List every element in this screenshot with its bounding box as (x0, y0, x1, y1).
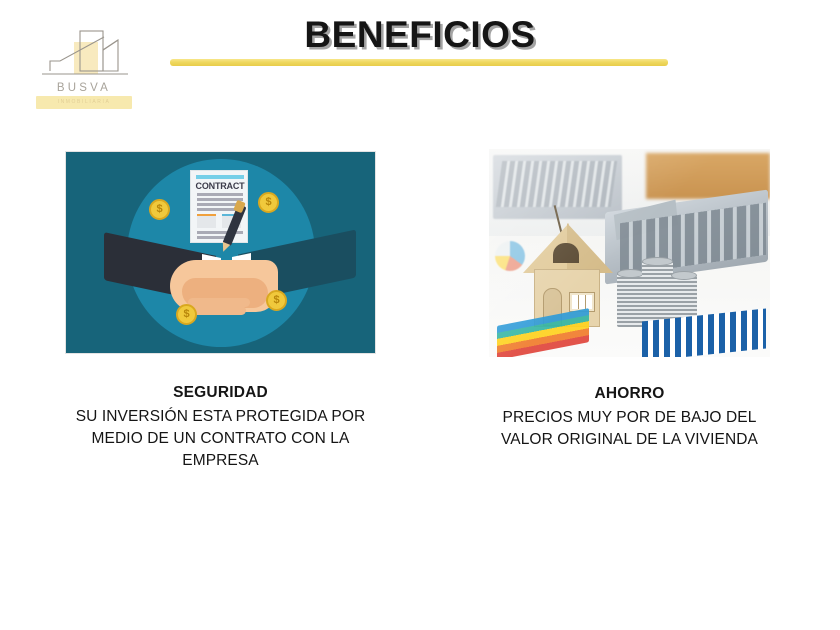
coin-icon: $ (258, 192, 279, 213)
benefit-body: SU INVERSIÓN ESTA PROTEGIDA POR MEDIO DE… (65, 406, 376, 472)
benefit-body: PRECIOS MUY POR DE BAJO DEL VALOR ORIGIN… (489, 407, 770, 451)
document-header-bar (196, 175, 244, 179)
benefit-card-ahorro: AHORRO PRECIOS MUY POR DE BAJO DEL VALOR… (489, 149, 770, 451)
benefit-heading: SEGURIDAD (65, 384, 376, 402)
slide-benefits: BUSVA INMOBILIARIA BENEFICIOS CONTRACT (0, 0, 840, 630)
coin-icon: $ (176, 304, 197, 325)
model-house-coins-calculator-photo (489, 149, 770, 357)
title-underline-rule (170, 59, 668, 66)
logo-wordmark: BUSVA (28, 82, 140, 94)
benefit-caption: AHORRO PRECIOS MUY POR DE BAJO DEL VALOR… (489, 385, 770, 451)
building-outline-icon (28, 28, 140, 84)
page-title: BENEFICIOS (170, 14, 670, 56)
logo-tagline: INMOBILIARIA (36, 96, 132, 109)
illustration-canvas: CONTRACT (66, 152, 375, 353)
coin-icon: $ (149, 199, 170, 220)
handshake-contract-illustration: CONTRACT (65, 151, 376, 354)
benefit-card-seguridad: CONTRACT (65, 151, 376, 472)
photo-canvas (489, 149, 770, 357)
coin-icon: $ (266, 290, 287, 311)
benefit-heading: AHORRO (489, 385, 770, 403)
document-title: CONTRACT (191, 181, 249, 191)
company-logo: BUSVA INMOBILIARIA (28, 28, 140, 110)
benefit-caption: SEGURIDAD SU INVERSIÓN ESTA PROTEGIDA PO… (65, 384, 376, 472)
photo-highlight (489, 149, 770, 357)
